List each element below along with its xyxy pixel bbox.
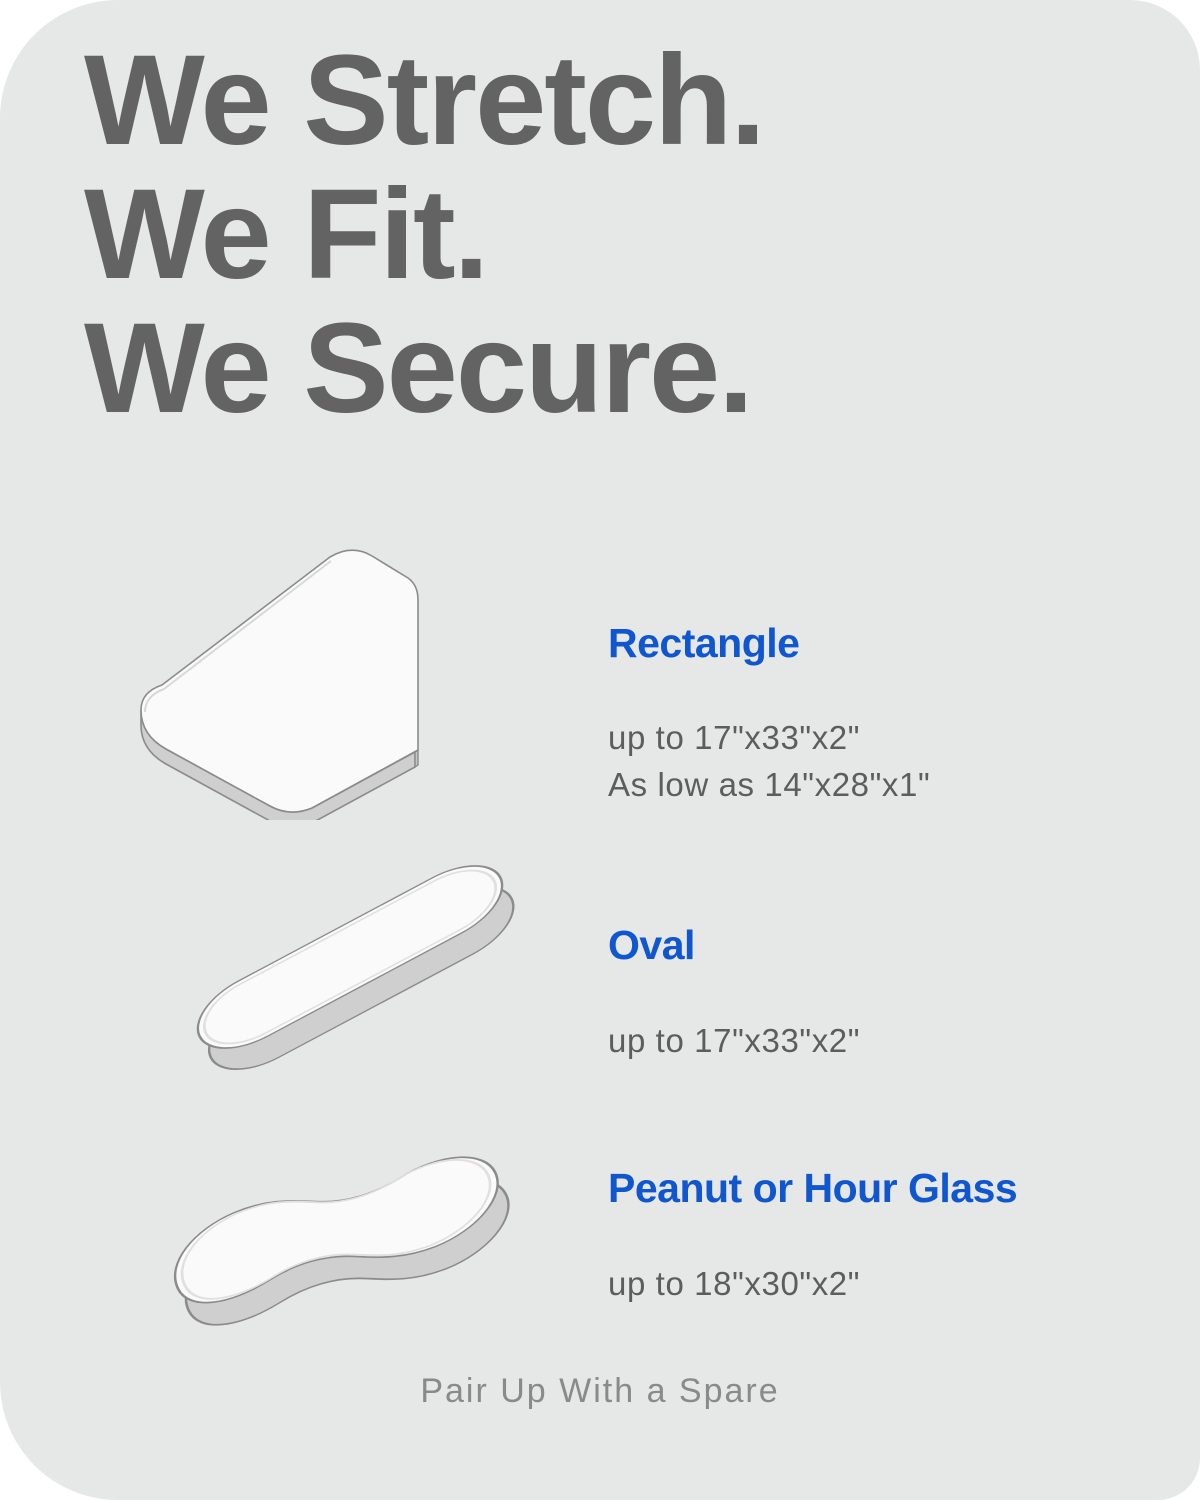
peanut-info: Peanut or Hour Glass up to 18"x30"x2" [608,1105,1168,1307]
rectangle-specs: up to 17"x33"x2" As low as 14"x28"x1" [608,667,1168,808]
peanut-specs: up to 18"x30"x2" [608,1212,1168,1307]
shape-row-peanut: Peanut or Hour Glass up to 18"x30"x2" [0,1105,1200,1370]
peanut-spec-1: up to 18"x30"x2" [608,1260,1168,1307]
headline-line-1: We Stretch. [84,34,764,168]
rectangle-mattress-pad-icon [0,520,580,820]
shape-title-rectangle: Rectangle [608,520,1168,667]
shape-row-rectangle: Rectangle up to 17"x33"x2" As low as 14"… [0,520,1200,820]
peanut-mattress-pad-icon [0,1105,580,1370]
oval-mattress-pad-icon [0,835,580,1105]
oval-info: Oval up to 17"x33"x2" [608,835,1168,1064]
rectangle-info: Rectangle up to 17"x33"x2" As low as 14"… [608,520,1168,808]
shape-title-oval: Oval [608,835,1168,969]
headline-line-3: We Secure. [84,302,764,436]
page-title: We Stretch. We Fit. We Secure. [84,34,764,436]
footer-note: Pair Up With a Spare [0,1372,1200,1411]
rectangle-spec-1: up to 17"x33"x2" [608,714,1168,761]
oval-spec-1: up to 17"x33"x2" [608,1017,1168,1064]
rectangle-spec-2: As low as 14"x28"x1" [608,761,1168,808]
oval-specs: up to 17"x33"x2" [608,969,1168,1064]
shape-row-oval: Oval up to 17"x33"x2" [0,835,1200,1105]
shape-title-peanut: Peanut or Hour Glass [608,1105,1168,1212]
headline-line-2: We Fit. [84,168,764,302]
poster-canvas: We Stretch. We Fit. We Secure. Rectangle… [0,0,1200,1500]
